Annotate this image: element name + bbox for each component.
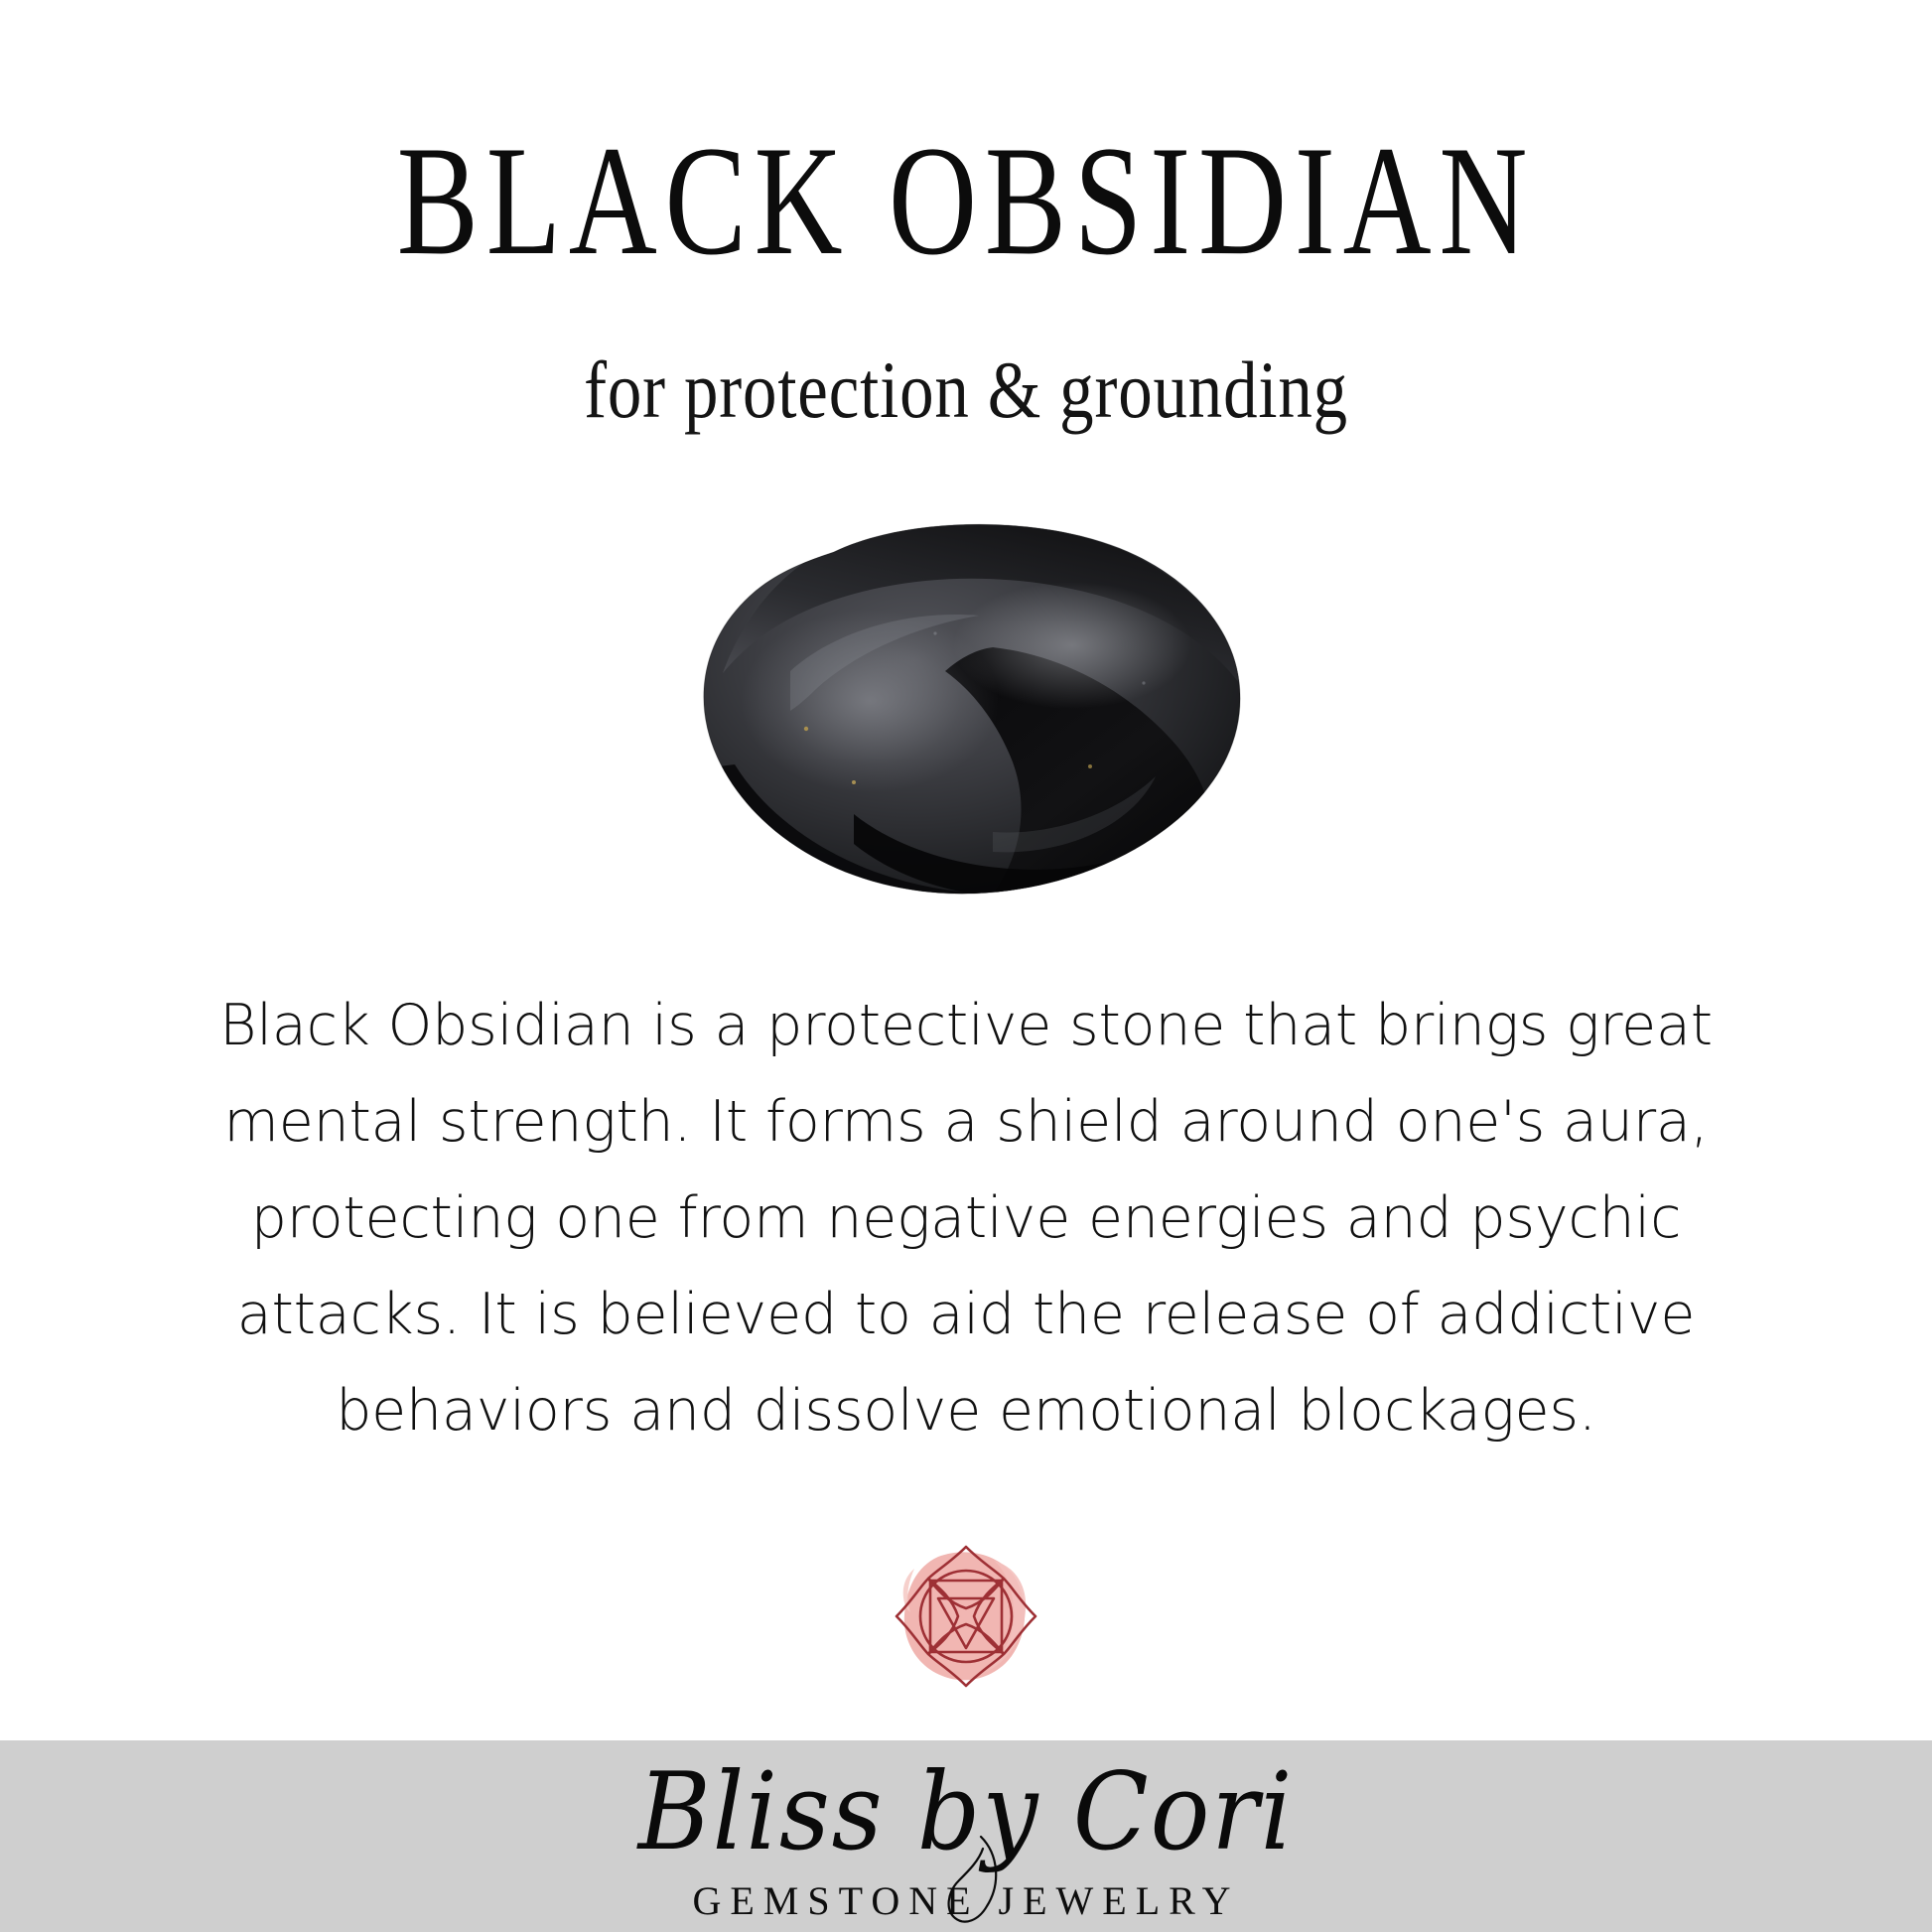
page-subtitle: for protection & grounding [155, 345, 1778, 435]
description-line: protecting one from negative energies an… [167, 1171, 1765, 1267]
stone-image [695, 516, 1243, 896]
brand-tagline: GEMSTONE JEWELRY [0, 1877, 1932, 1924]
description-line: attacks. It is believed to aid the relea… [167, 1267, 1765, 1363]
root-chakra-icon [867, 1517, 1065, 1716]
root-chakra-symbol [867, 1517, 1065, 1716]
page-title: BLACK OBSIDIAN [212, 117, 1720, 287]
black-obsidian-stone-icon [695, 516, 1243, 896]
brand-name: Bliss by Cori [77, 1750, 1855, 1874]
description-line: Black Obsidian is a protective stone tha… [167, 978, 1765, 1074]
description-line: behaviors and dissolve emotional blockag… [167, 1363, 1765, 1459]
brand-footer: Bliss by Cori GEMSTONE JEWELRY [0, 1740, 1932, 1932]
gemstone-info-card: BLACK OBSIDIAN for protection & groundin… [0, 0, 1932, 1932]
description-line: mental strength. It forms a shield aroun… [167, 1074, 1765, 1171]
description-text: Black Obsidian is a protective stone tha… [167, 978, 1765, 1459]
